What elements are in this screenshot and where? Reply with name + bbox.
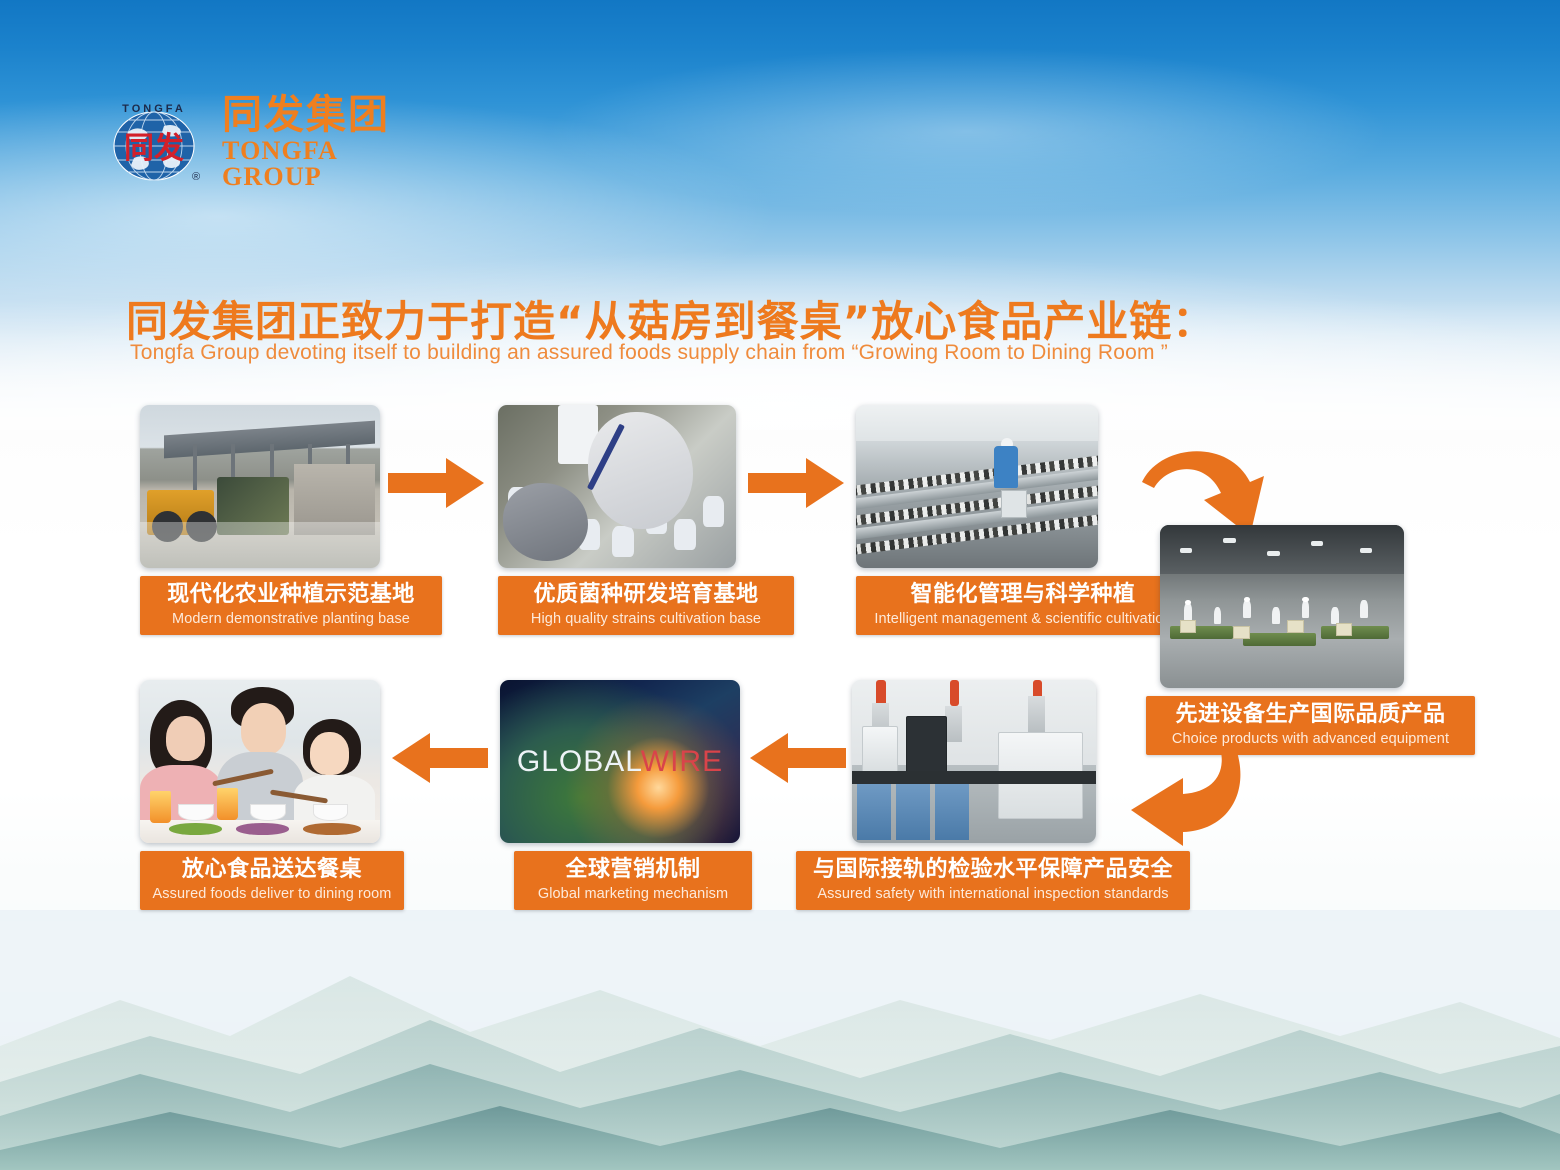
modern-planting-base-photo xyxy=(140,405,380,568)
flow-step-6-caption-en: Global marketing mechanism xyxy=(526,886,740,902)
flow-step-1-caption: 现代化农业种植示范基地 Modern demonstrative plantin… xyxy=(140,576,442,635)
strain-cultivation-lab-photo xyxy=(498,405,736,568)
globalwire-word-b: WIRE xyxy=(641,745,723,778)
flow-step-3-caption: 智能化管理与科学种植 Intelligent management & scie… xyxy=(856,576,1190,635)
flow-step-4-caption-cn: 先进设备生产国际品质产品 xyxy=(1158,703,1463,728)
flow-step-4-caption: 先进设备生产国际品质产品 Choice products with advanc… xyxy=(1146,696,1475,755)
svg-text:同发: 同发 xyxy=(124,131,184,166)
page-title-english: Tongfa Group devoting itself to building… xyxy=(130,341,1168,365)
page-title-chinese: 同发集团正致力于打造“从菇房到餐桌”放心食品产业链： xyxy=(126,288,1215,349)
family-dining-photo xyxy=(140,680,380,843)
svg-text:TONGFA: TONGFA xyxy=(122,103,186,115)
flow-step-3-caption-cn: 智能化管理与科学种植 xyxy=(868,583,1178,608)
flow-step-5[interactable]: 与国际接轨的检验水平保障产品安全 Assured safety with int… xyxy=(852,680,1190,910)
logo-wordmark: 同发集团 TONGFA GROUP xyxy=(222,95,444,190)
flow-step-7-caption: 放心食品送达餐桌 Assured foods deliver to dining… xyxy=(140,851,404,910)
flow-step-1-caption-cn: 现代化农业种植示范基地 xyxy=(152,583,430,608)
arrow-6-straight-left xyxy=(390,730,488,791)
logo-chinese-name: 同发集团 xyxy=(222,95,444,135)
flow-step-2[interactable]: 优质菌种研发培育基地 High quality strains cultivat… xyxy=(498,405,794,635)
flow-step-6-caption-cn: 全球营销机制 xyxy=(526,858,740,883)
advanced-equipment-factory-photo xyxy=(1160,525,1404,688)
intelligent-growing-room-photo xyxy=(856,405,1098,568)
flow-step-1-caption-en: Modern demonstrative planting base xyxy=(152,611,430,627)
flow-step-2-caption-cn: 优质菌种研发培育基地 xyxy=(510,583,782,608)
global-marketing-photo: GLOBALWIRE xyxy=(500,680,740,843)
flow-step-5-caption: 与国际接轨的检验水平保障产品安全 Assured safety with int… xyxy=(796,851,1190,910)
arrow-5-straight-left xyxy=(748,730,846,791)
flow-step-5-caption-cn: 与国际接轨的检验水平保障产品安全 xyxy=(808,858,1178,883)
flow-step-5-caption-en: Assured safety with international inspec… xyxy=(808,886,1178,902)
flow-step-6[interactable]: GLOBALWIRE 全球营销机制 Global marketing mecha… xyxy=(500,680,752,910)
globalwire-wordmark: GLOBALWIRE xyxy=(500,745,740,779)
flow-step-4-caption-en: Choice products with advanced equipment xyxy=(1158,731,1463,747)
logo-english-name: TONGFA GROUP xyxy=(222,138,444,190)
globe-icon: TONGFA 同发 ® xyxy=(104,96,208,188)
flow-step-7-caption-cn: 放心食品送达餐桌 xyxy=(152,858,392,883)
flow-step-7-caption-en: Assured foods deliver to dining room xyxy=(152,886,392,902)
svg-text:®: ® xyxy=(192,171,200,183)
flow-step-3-caption-en: Intelligent management & scientific cult… xyxy=(868,611,1178,627)
flow-step-2-caption-en: High quality strains cultivation base xyxy=(510,611,782,627)
globalwire-word-a: GLOBAL xyxy=(517,745,641,778)
flow-step-4[interactable]: 先进设备生产国际品质产品 Choice products with advanc… xyxy=(1160,525,1475,755)
arrow-2-straight-right xyxy=(748,455,846,516)
poster-canvas: TONGFA 同发 ® 同发集团 TONGFA GROUP 同发集团正致力于打造… xyxy=(0,0,1560,1170)
flow-step-2-caption: 优质菌种研发培育基地 High quality strains cultivat… xyxy=(498,576,794,635)
flow-step-6-caption: 全球营销机制 Global marketing mechanism xyxy=(514,851,752,910)
flow-step-1[interactable]: 现代化农业种植示范基地 Modern demonstrative plantin… xyxy=(140,405,442,635)
arrow-1-straight-right xyxy=(388,455,486,516)
flow-step-7[interactable]: 放心食品送达餐桌 Assured foods deliver to dining… xyxy=(140,680,404,910)
brand-logo[interactable]: TONGFA 同发 ® 同发集团 TONGFA GROUP xyxy=(104,96,444,188)
inspection-laboratory-photo xyxy=(852,680,1096,843)
